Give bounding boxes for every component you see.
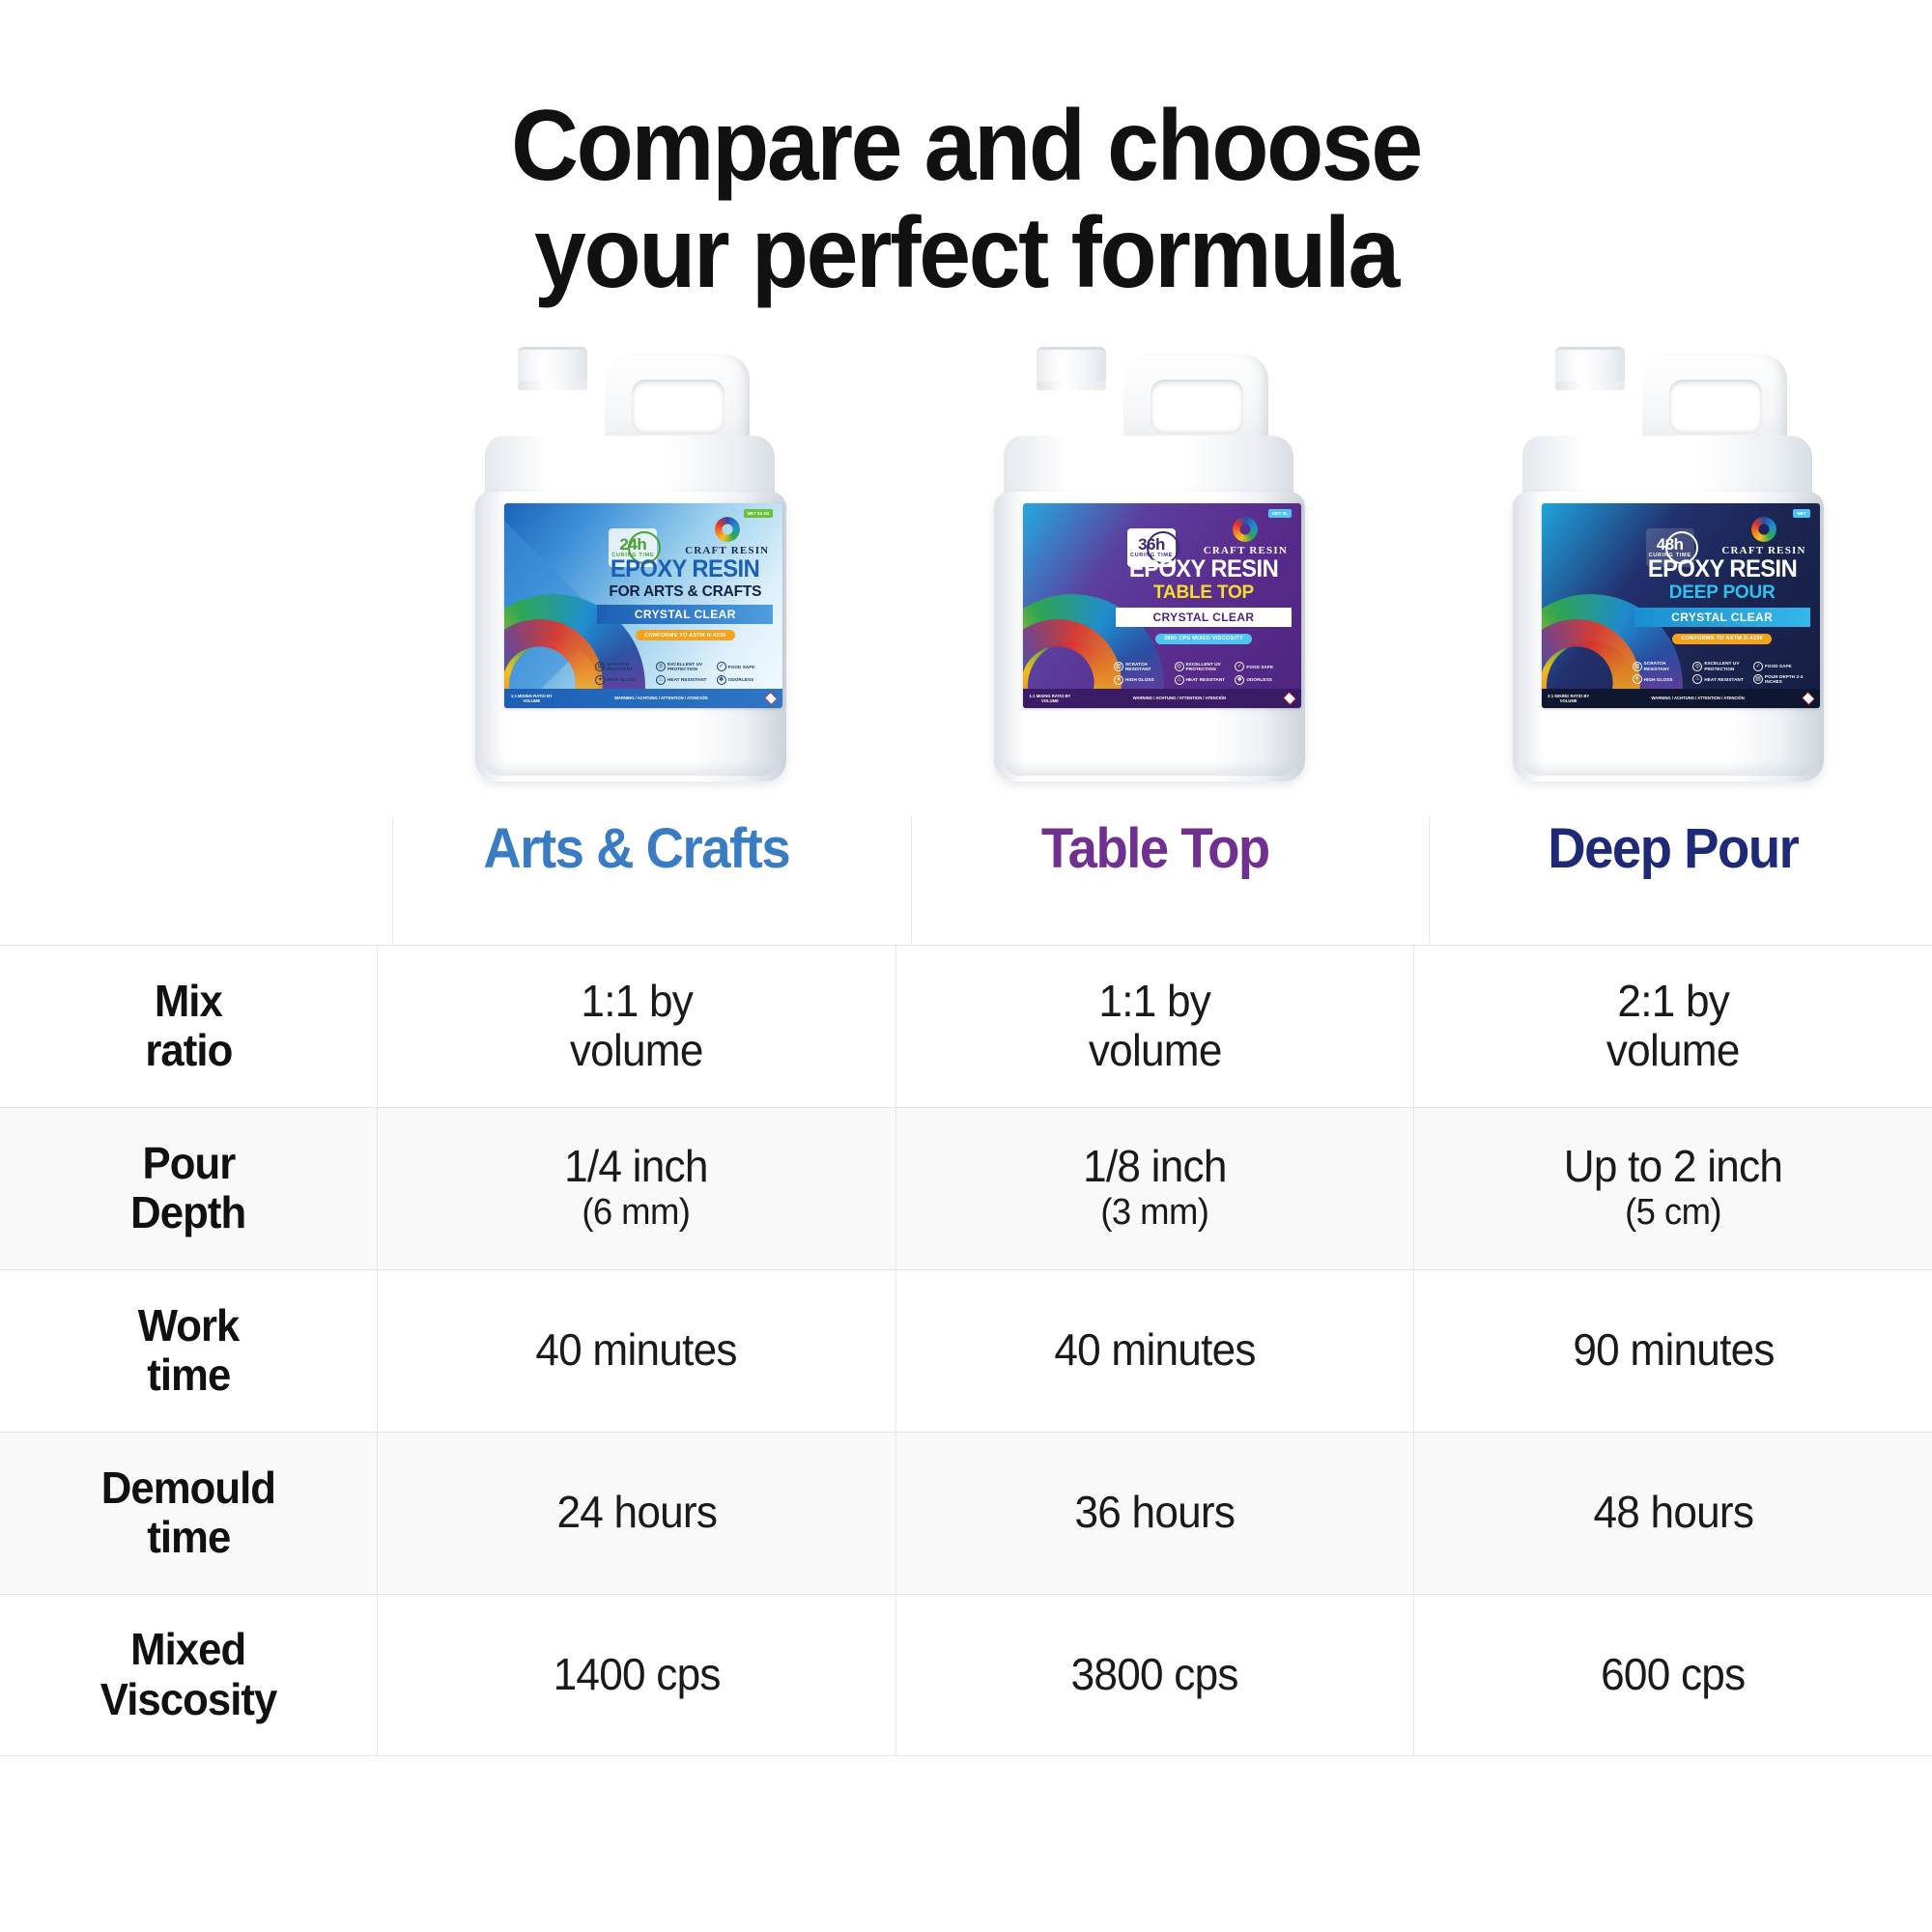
title-line-2: your perfect formula — [68, 200, 1864, 307]
label-footer: 2:1 MIXING RATIO BY VOLUME WARNING / ACH… — [1542, 689, 1820, 708]
feature-item: ✓FOOD SAFE — [1235, 662, 1293, 672]
column-heading-spacer — [0, 816, 377, 945]
hazard-icon — [1802, 692, 1814, 704]
feature-item: ♨HEAT RESISTANT — [1175, 675, 1234, 685]
uv-protection-icon: ◎ — [1692, 662, 1702, 671]
cell-demould-time-deep-pour: 48 hours — [1413, 1433, 1932, 1594]
high-gloss-icon: ✦ — [1114, 675, 1123, 685]
label-warning-text: WARNING / ACHTUNG / ATTENTION / ATENCIÓN — [1596, 696, 1801, 700]
feature-item: ♨HEAT RESISTANT — [656, 675, 715, 685]
feature-item: ✓FOOD SAFE — [1753, 661, 1812, 671]
product-image-row: NET 64 Oz 24h CURING TIME CRAFT RESIN — [0, 347, 1932, 791]
cell-pour-depth-deep-pour: Up to 2 inch (5 cm) — [1413, 1108, 1932, 1269]
row-label-pour-depth: Pour Depth — [0, 1108, 377, 1269]
label-product-variant: DEEP POUR — [1634, 583, 1810, 604]
feature-item: ✽ODORLESS — [717, 675, 776, 685]
food-safe-icon: ✓ — [1753, 662, 1763, 671]
product-row-spacer — [0, 347, 377, 791]
cell-demould-time-arts-crafts: 24 hours — [377, 1433, 895, 1594]
odorless-icon: ✽ — [717, 675, 726, 685]
label-mix-ratio-note: 1:1 MIXING RATIO BY VOLUME — [1023, 694, 1077, 703]
scratch-resistant-icon: ▧ — [595, 662, 605, 671]
bottle-handle-hole — [1151, 380, 1243, 434]
bottle-cap-icon — [1037, 347, 1106, 384]
uv-protection-icon: ◎ — [1175, 662, 1184, 671]
label-feature-list: ▧SCRATCH RESISTANT ◎EXCELLENT UV PROTECT… — [1114, 662, 1293, 685]
table-row: Mix ratio 1:1 by volume 1:1 by volume 2:… — [0, 945, 1932, 1107]
row-label-mix-ratio: Mix ratio — [0, 946, 377, 1107]
product-label-deep-pour: NET 48h CURING TIME CRAFT RESIN — [1542, 503, 1820, 708]
pour-depth-icon: ▤ — [1753, 674, 1763, 684]
label-certification-badge: CONFORMS TO ASTM D-4236 — [1672, 634, 1772, 644]
craft-resin-logo-icon — [715, 517, 740, 542]
feature-item: ✦HIGH GLOSS — [1114, 675, 1173, 685]
feature-item: ▧SCRATCH RESISTANT — [1114, 662, 1173, 672]
brand-lockup: CRAFT RESIN — [1204, 517, 1288, 556]
cell-mix-ratio-table-top: 1:1 by volume — [895, 946, 1414, 1107]
table-row: Pour Depth 1/4 inch (6 mm) 1/8 inch (3 m… — [0, 1107, 1932, 1269]
feature-item: ◎EXCELLENT UV PROTECTION — [1175, 662, 1234, 672]
bottle-arts-crafts: NET 64 Oz 24h CURING TIME CRAFT RESIN — [462, 347, 810, 791]
cell-work-time-deep-pour: 90 minutes — [1413, 1270, 1932, 1432]
odorless-icon: ✽ — [1235, 675, 1244, 685]
table-row: Work time 40 minutes 40 minutes 90 minut… — [0, 1269, 1932, 1432]
feature-item: ▧SCRATCH RESISTANT — [1633, 661, 1691, 671]
hazard-icon — [1283, 692, 1295, 704]
label-product-type: EPOXY RESIN — [1121, 557, 1288, 582]
cell-mixed-viscosity-deep-pour: 600 cps — [1413, 1595, 1932, 1755]
brand-lockup: CRAFT RESIN — [1721, 517, 1805, 556]
craft-resin-logo-icon — [1233, 517, 1258, 542]
label-warning-text: WARNING / ACHTUNG / ATTENTION / ATENCIÓN — [1077, 696, 1282, 700]
label-mix-ratio-note: 2:1 MIXING RATIO BY VOLUME — [1542, 694, 1596, 703]
heat-resistant-icon: ♨ — [1175, 675, 1184, 685]
label-clarity-banner: CRYSTAL CLEAR — [597, 605, 773, 624]
label-viscosity-badge: 3800 CPS MIXED VISCOSITY — [1155, 634, 1252, 644]
product-image-table-top: NET 2L 36h CURING TIME CRAFT RESIN — [895, 347, 1414, 791]
feature-item: ✽ODORLESS — [1235, 675, 1293, 685]
feature-item: ✦HIGH GLOSS — [595, 675, 654, 685]
column-heading-arts-crafts: Arts & Crafts — [392, 816, 879, 945]
label-product-variant: FOR ARTS & CRAFTS — [597, 583, 773, 600]
bottle-table-top: NET 2L 36h CURING TIME CRAFT RESIN — [980, 347, 1328, 791]
column-heading-table-top: Table Top — [911, 816, 1398, 945]
scratch-resistant-icon: ▧ — [1633, 662, 1642, 671]
bottle-handle-hole — [632, 380, 724, 434]
cell-mix-ratio-deep-pour: 2:1 by volume — [1413, 946, 1932, 1107]
feature-item: ▧SCRATCH RESISTANT — [595, 662, 654, 672]
bottle-body: NET 2L 36h CURING TIME CRAFT RESIN — [994, 492, 1305, 781]
heat-resistant-icon: ♨ — [1692, 674, 1702, 684]
label-text-block: EPOXY RESIN TABLE TOP CRYSTAL CLEAR 3800… — [1116, 557, 1292, 645]
row-label-work-time: Work time — [0, 1270, 377, 1432]
label-clarity-banner: CRYSTAL CLEAR — [1116, 608, 1292, 627]
food-safe-icon: ✓ — [717, 662, 726, 671]
label-warning-text: WARNING / ACHTUNG / ATTENTION / ATENCIÓN — [558, 696, 763, 700]
scratch-resistant-icon: ▧ — [1114, 662, 1123, 671]
comparison-infographic: Compare and choose your perfect formula — [0, 0, 1932, 1932]
high-gloss-icon: ✦ — [1633, 674, 1642, 684]
label-mix-ratio-note: 1:1 MIXING RATIO BY VOLUME — [504, 694, 558, 703]
label-feature-list: ▧SCRATCH RESISTANT ◎EXCELLENT UV PROTECT… — [595, 662, 775, 685]
bottle-handle-hole — [1669, 380, 1762, 434]
cell-pour-depth-arts-crafts: 1/4 inch (6 mm) — [377, 1108, 895, 1269]
feature-item: ◎EXCELLENT UV PROTECTION — [1692, 661, 1751, 671]
feature-item: ♨HEAT RESISTANT — [1692, 674, 1751, 685]
bottle-body: NET 48h CURING TIME CRAFT RESIN — [1513, 492, 1824, 781]
feature-item: ▤POUR DEPTH 2-4 INCHES — [1753, 674, 1812, 685]
food-safe-icon: ✓ — [1235, 662, 1244, 671]
label-product-type: EPOXY RESIN — [1638, 557, 1805, 582]
label-certification-badge: CONFORMS TO ASTM D-4236 — [636, 630, 735, 640]
cell-work-time-table-top: 40 minutes — [895, 1270, 1414, 1432]
label-product-type: EPOXY RESIN — [602, 557, 769, 582]
row-label-mixed-viscosity: Mixed Viscosity — [0, 1595, 377, 1755]
label-text-block: EPOXY RESIN DEEP POUR CRYSTAL CLEAR CONF… — [1634, 557, 1810, 645]
craft-resin-logo-icon — [1751, 517, 1776, 542]
feature-item: ✓FOOD SAFE — [717, 662, 776, 672]
bottle-body: NET 64 Oz 24h CURING TIME CRAFT RESIN — [475, 492, 786, 781]
row-label-demould-time: Demould time — [0, 1433, 377, 1594]
page-title: Compare and choose your perfect formula — [0, 0, 1932, 308]
product-image-deep-pour: NET 48h CURING TIME CRAFT RESIN — [1413, 347, 1932, 791]
bottle-cap-icon — [518, 347, 587, 384]
brand-lockup: CRAFT RESIN — [685, 517, 769, 556]
feature-item: ✦HIGH GLOSS — [1633, 674, 1691, 685]
high-gloss-icon: ✦ — [595, 675, 605, 685]
cell-demould-time-table-top: 36 hours — [895, 1433, 1414, 1594]
hazard-icon — [765, 692, 778, 704]
column-heading-deep-pour: Deep Pour — [1429, 816, 1916, 945]
bottle-cap-icon — [1555, 347, 1625, 384]
cell-mixed-viscosity-arts-crafts: 1400 cps — [377, 1595, 895, 1755]
heat-resistant-icon: ♨ — [656, 675, 666, 685]
product-image-arts-crafts: NET 64 Oz 24h CURING TIME CRAFT RESIN — [377, 347, 895, 791]
label-feature-list: ▧SCRATCH RESISTANT ◎EXCELLENT UV PROTECT… — [1633, 661, 1812, 684]
comparison-table: Mix ratio 1:1 by volume 1:1 by volume 2:… — [0, 945, 1932, 1756]
label-footer: 1:1 MIXING RATIO BY VOLUME WARNING / ACH… — [1023, 689, 1301, 708]
cell-mixed-viscosity-table-top: 3800 cps — [895, 1595, 1414, 1755]
title-line-1: Compare and choose — [68, 93, 1864, 200]
label-footer: 1:1 MIXING RATIO BY VOLUME WARNING / ACH… — [504, 689, 782, 708]
product-label-arts-crafts: NET 64 Oz 24h CURING TIME CRAFT RESIN — [504, 503, 782, 708]
label-text-block: EPOXY RESIN FOR ARTS & CRAFTS CRYSTAL CL… — [597, 557, 773, 641]
table-row: Demould time 24 hours 36 hours 48 hours — [0, 1432, 1932, 1594]
bottle-deep-pour: NET 48h CURING TIME CRAFT RESIN — [1499, 347, 1847, 791]
cell-mix-ratio-arts-crafts: 1:1 by volume — [377, 946, 895, 1107]
product-label-table-top: NET 2L 36h CURING TIME CRAFT RESIN — [1023, 503, 1301, 708]
label-product-variant: TABLE TOP — [1116, 583, 1292, 604]
cell-work-time-arts-crafts: 40 minutes — [377, 1270, 895, 1432]
column-heading-row: Arts & Crafts Table Top Deep Pour — [0, 816, 1932, 945]
uv-protection-icon: ◎ — [656, 662, 666, 671]
feature-item: ◎EXCELLENT UV PROTECTION — [656, 662, 715, 672]
table-row: Mixed Viscosity 1400 cps 3800 cps 600 cp… — [0, 1594, 1932, 1756]
label-clarity-banner: CRYSTAL CLEAR — [1634, 608, 1810, 627]
cell-pour-depth-table-top: 1/8 inch (3 mm) — [895, 1108, 1414, 1269]
